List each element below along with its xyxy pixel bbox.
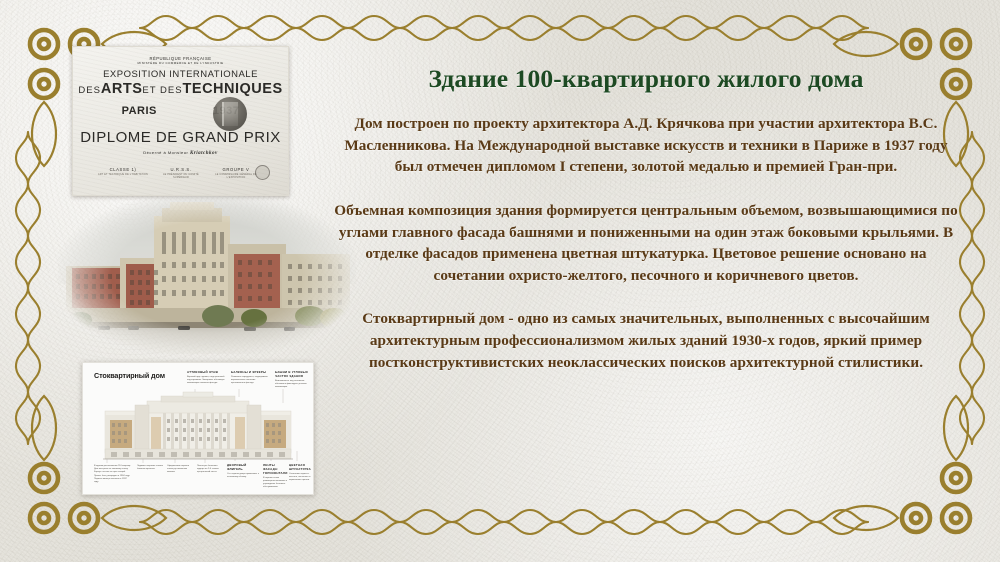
diploma-techniques-word: TECHNIQUES — [183, 81, 283, 97]
corner-ornament-bottom-right — [834, 396, 970, 532]
callout-body: В здании расположены 110 квартир. Дом по… — [94, 465, 132, 484]
building-photograph — [58, 196, 356, 354]
paragraph-history: Дом построен по проекту архитектора А.Д.… — [332, 113, 960, 178]
diploma-classe-block: CLASSE 1) ART ET TECHNIQUE DE L'HABITATI… — [97, 167, 149, 176]
diploma-arts-techniques-line: DESARTSET DESTECHNIQUES — [73, 81, 288, 97]
diploma-ussr-sub: LE PRÉSIDENT DU COMITÉ SUPÉRIEUR — [157, 173, 205, 179]
diploma-groupe-label: GROUPE V — [223, 167, 250, 172]
callout-heading: ДВОРОВЫЙ ФЛИГЕЛЬ — [227, 463, 259, 471]
diploma-ussr-block: U.R.S.S. LE PRÉSIDENT DU COMITÉ SUPÉRIEU… — [157, 167, 205, 179]
callout-body: Пилястры большого ордера на 2-4 этажах ц… — [197, 465, 223, 475]
diploma-classe-sub: ART ET TECHNIQUE DE L'HABITATION — [97, 173, 149, 176]
diploma-arts-word: ARTS — [101, 81, 142, 97]
infographic-note-loggias: Лоджии в верхних этажах боковых крыльев. — [137, 465, 163, 471]
diploma-seal-emblem — [213, 97, 247, 131]
diploma-des-1: DES — [78, 85, 101, 96]
diploma-city: PARIS — [122, 105, 157, 117]
diploma-decerne-label: Décerné à Monsieur — [143, 150, 188, 155]
callout-heading: ЛЕНТЫ ФАСАДА: ГОРИЗОНТАЛИ — [263, 463, 287, 475]
presentation-slide: RÉPUBLIQUE FRANÇAISE MINISTÈRE DU COMMER… — [0, 0, 1000, 562]
infographic-note-courtyard-wing: ДВОРОВЫЙ ФЛИГЕЛЬ Со стороны двора примык… — [227, 463, 259, 479]
infographic-note-colored-plaster: ЦВЕТНАЯ ШТУКАТУРКА Сочетание охристо-жел… — [289, 463, 311, 482]
diploma-et-des: ET DES — [142, 85, 182, 96]
infographic-note-facade-bands: ЛЕНТЫ ФАСАДА: ГОРИЗОНТАЛИ В первом этаже… — [263, 463, 287, 489]
callout-body: Сочетание охристо-желтого, песочного и к… — [289, 473, 311, 483]
diploma-award-line: DIPLOME DE GRAND PRIX — [73, 129, 288, 146]
diploma-classe-label: CLASSE 1) — [110, 167, 137, 172]
photograph-frame — [58, 196, 356, 354]
diploma-recipient-line: Décerné à Monsieur Kriatchkov — [73, 150, 288, 156]
infographic-note-apartments: В здании расположены 110 квартир. Дом по… — [94, 465, 132, 484]
text-content-column: Здание 100-квартирного жилого дома Дом п… — [332, 64, 960, 373]
callout-heading: ЦВЕТНАЯ ШТУКАТУРКА — [289, 463, 311, 471]
diploma-exposition-line: EXPOSITION INTERNATIONALE — [73, 69, 288, 80]
diploma-round-stamp — [255, 165, 270, 180]
infographic-poster: Стоквартирный дом АТТИКОВЫЙ ЭТАЖ Верхний… — [82, 362, 314, 495]
paragraph-composition: Объемная композиция здания формируется ц… — [332, 200, 960, 286]
callout-body: Лоджии в верхних этажах боковых крыльев. — [137, 465, 163, 471]
callout-body: В первом этаже размещены магазины и учре… — [263, 477, 287, 490]
paragraph-significance: Стоквартирный дом - одно из самых значит… — [332, 308, 960, 373]
diploma-groupe-sub: LE COMMISSAIRE GÉNÉRAL DE L'EXPOSITION — [211, 173, 261, 179]
photo-building-render — [58, 196, 356, 354]
diploma-ussr-label: U.R.S.S. — [170, 167, 191, 172]
callout-body: Со стороны двора примыкает к основному о… — [227, 473, 259, 479]
infographic-note-rustication: Оформление первого этажа рустованным кам… — [167, 465, 193, 475]
diploma-groupe-block: GROUPE V LE COMMISSAIRE GÉNÉRAL DE L'EXP… — [211, 167, 261, 179]
slide-title: Здание 100-квартирного жилого дома — [332, 64, 960, 93]
infographic-note-pilasters: Пилястры большого ордера на 2-4 этажах ц… — [197, 465, 223, 475]
diploma-city-year-line: PARIS1937 — [73, 105, 288, 117]
diploma-ministry-line: MINISTÈRE DU COMMERCE ET DE L'INDUSTRIE — [73, 61, 288, 65]
diploma-recipient-signature: Kriatchkov — [190, 151, 218, 156]
callout-body: Оформление первого этажа рустованным кам… — [167, 465, 193, 475]
diploma-image: RÉPUBLIQUE FRANÇAISE MINISTÈRE DU COMMER… — [72, 46, 289, 196]
